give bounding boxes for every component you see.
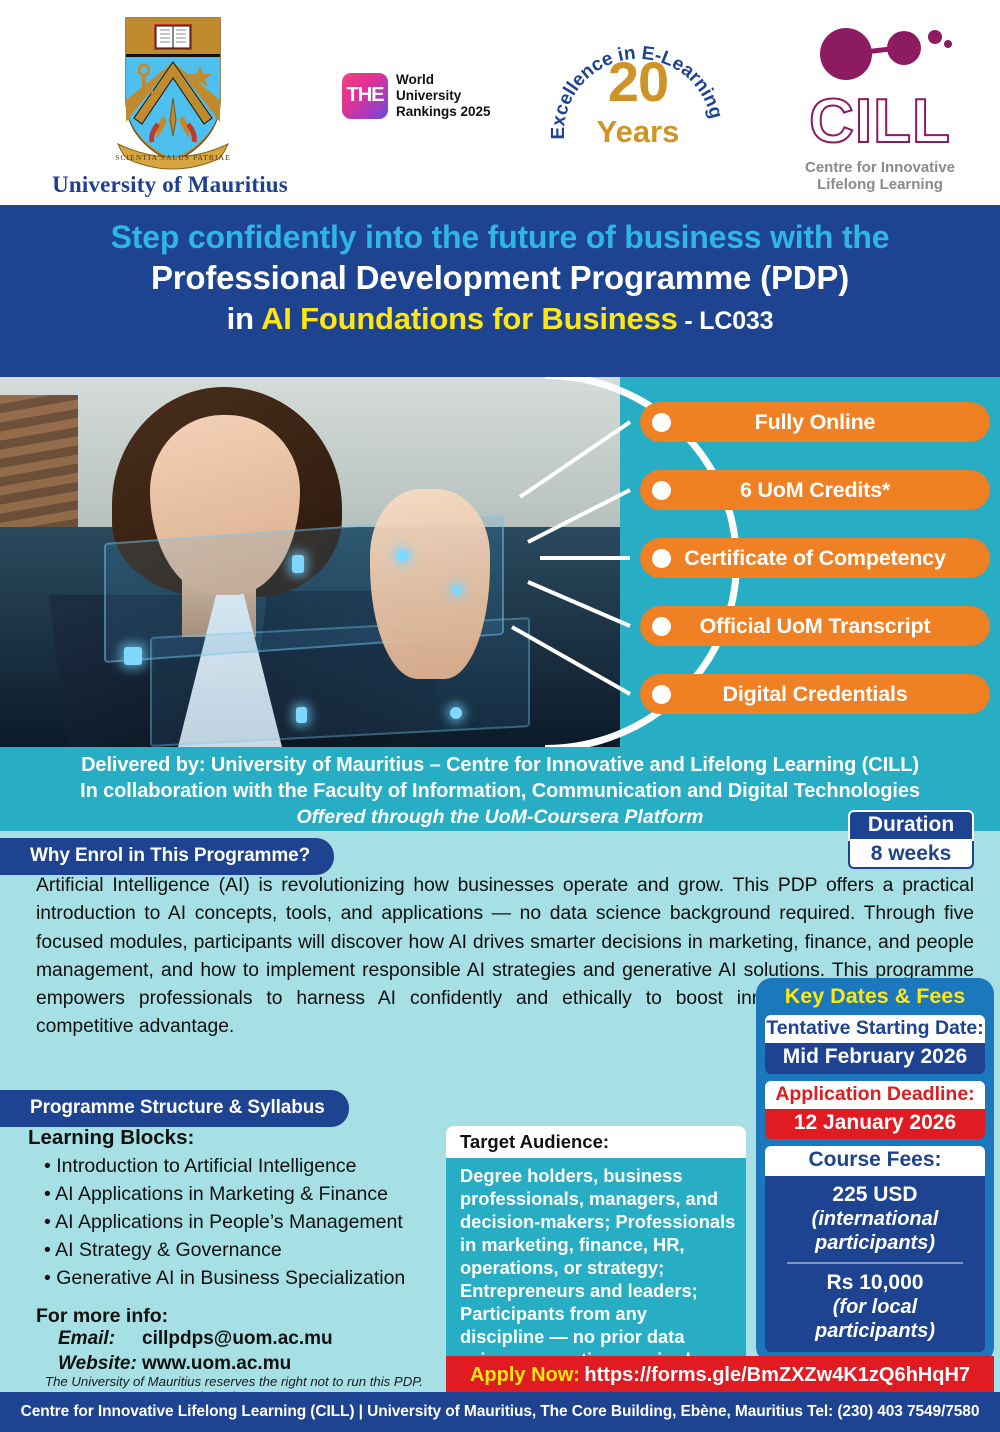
duration-value: 8 weeks (848, 841, 974, 870)
cill-subtitle: Centre for Innovative Lifelong Learning (780, 159, 980, 194)
feature-pill-label: Fully Online (755, 410, 876, 435)
start-date-card: Tentative Starting Date: Mid February 20… (765, 1015, 985, 1074)
pill-dot-icon (652, 685, 671, 704)
learning-blocks-heading: Learning Blocks: (28, 1126, 194, 1150)
crest-motto: SCIENTIA SALUS PATRIAE (115, 153, 231, 162)
apply-now-banner[interactable]: Apply Now: https://forms.gle/BmZXZw4K1zQ… (446, 1356, 994, 1394)
title-banner: Step confidently into the future of busi… (0, 205, 1000, 377)
fee-international-note-1: (international (771, 1208, 979, 1232)
the-line-3: Rankings 2025 (396, 104, 491, 120)
title-line-3-highlight: AI Foundations for Business (261, 301, 678, 336)
title-line-3: in AI Foundations for Business - LC033 (0, 299, 1000, 339)
start-date-label: Tentative Starting Date: (765, 1015, 985, 1043)
feature-pill-label: 6 UoM Credits* (740, 478, 890, 503)
the-badge-icon: THE (342, 73, 388, 119)
tab-programme-structure: Programme Structure & Syllabus (0, 1090, 349, 1127)
list-item: Introduction to Artificial Intelligence (44, 1152, 454, 1180)
feature-pill-label: Official UoM Transcript (700, 614, 931, 639)
fee-international-amount: 225 USD (771, 1183, 979, 1208)
pill-dot-icon (652, 617, 671, 636)
learning-blocks-list: Introduction to Artificial Intelligence … (44, 1152, 454, 1292)
cill-network-icon (780, 22, 980, 82)
course-fees-card: Course Fees: 225 USD (international part… (765, 1146, 985, 1352)
course-fees-body: 225 USD (international participants) Rs … (765, 1176, 985, 1352)
fee-divider (787, 1262, 963, 1264)
hero-section: Fully Online 6 UoM Credits* Certificate … (0, 377, 1000, 747)
cill-letters: CILL (780, 91, 980, 153)
cill-sub-line-1: Centre for Innovative (780, 159, 980, 176)
list-item: AI Applications in People’s Management (44, 1208, 454, 1236)
email-value[interactable]: cillpdps@uom.ac.mu (142, 1328, 333, 1349)
the-rankings-text: World University Rankings 2025 (396, 72, 491, 120)
the-line-1: World (396, 72, 491, 88)
title-line-2: Professional Development Programme (PDP) (0, 257, 1000, 299)
feature-pill[interactable]: Digital Credentials (640, 674, 990, 714)
target-audience-box: Target Audience: Degree holders, busines… (446, 1126, 746, 1382)
feature-pill[interactable]: 6 UoM Credits* (640, 470, 990, 510)
key-dates-fees-panel: Key Dates & Fees Tentative Starting Date… (756, 978, 994, 1363)
delivered-by-line-2: In collaboration with the Faculty of Inf… (0, 778, 1000, 804)
the-rankings-logo: THE World University Rankings 2025 (342, 72, 491, 120)
pill-dot-icon (652, 549, 671, 568)
pill-dot-icon (652, 481, 671, 500)
start-date-value: Mid February 2026 (765, 1043, 985, 1074)
email-label: Email: (58, 1327, 142, 1352)
contact-heading: For more info: (36, 1305, 168, 1328)
university-name: University of Mauritius (20, 172, 320, 198)
fee-local-amount: Rs 10,000 (771, 1271, 979, 1296)
feature-pill[interactable]: Certificate of Competency (640, 538, 990, 578)
feature-pill-list: Fully Online 6 UoM Credits* Certificate … (622, 377, 1000, 747)
contact-website-row: Website:www.uom.ac.mu (58, 1352, 333, 1377)
list-item: AI Strategy & Governance (44, 1236, 454, 1264)
years-number: 20 (548, 54, 728, 110)
website-value[interactable]: www.uom.ac.mu (142, 1353, 291, 1374)
uom-crest-icon: SCIENTIA SALUS PATRIAE (108, 12, 238, 170)
footer-bar: Centre for Innovative Lifelong Learning … (0, 1392, 1000, 1432)
the-line-2: University (396, 88, 491, 104)
title-line-1: Step confidently into the future of busi… (0, 218, 1000, 257)
list-item: AI Applications in Marketing & Finance (44, 1180, 454, 1208)
years-word: Years (548, 116, 728, 147)
title-line-3-prefix: in (227, 301, 261, 336)
flyer-page: SCIENTIA SALUS PATRIAE University of Mau… (0, 0, 1000, 1432)
contact-details: Email:cillpdps@uom.ac.mu Website:www.uom… (58, 1327, 333, 1376)
tab-why-enrol: Why Enrol in This Programme? (0, 838, 334, 875)
fee-local-note: (for local participants) (771, 1296, 979, 1343)
feature-pill-label: Certificate of Competency (684, 546, 945, 571)
hero-photo (0, 377, 620, 747)
deadline-card: Application Deadline: 12 January 2026 (765, 1081, 985, 1140)
cill-sub-line-2: Lifelong Learning (780, 176, 980, 193)
cill-logo: CILL Centre for Innovative Lifelong Lear… (780, 22, 980, 194)
delivered-by-line-1: Delivered by: University of Mauritius – … (0, 752, 1000, 778)
feature-pill-label: Digital Credentials (723, 682, 908, 707)
duration-label: Duration (848, 810, 974, 841)
fee-international-note-2: participants) (771, 1232, 979, 1256)
website-label: Website: (58, 1352, 142, 1377)
title-course-code: - LC033 (678, 307, 774, 335)
target-audience-body: Degree holders, business professionals, … (446, 1158, 746, 1382)
deadline-label: Application Deadline: (765, 1081, 985, 1109)
uom-crest: SCIENTIA SALUS PATRIAE (108, 12, 238, 175)
apply-now-url[interactable]: https://forms.gle/BmZXZw4K1zQ6hHqH7 (584, 1364, 970, 1387)
twenty-years-logo: Excellence in E-Learning 20 Years (548, 28, 728, 193)
the-badge-text: THE (347, 84, 384, 107)
deadline-value: 12 January 2026 (765, 1109, 985, 1140)
key-dates-title: Key Dates & Fees (765, 984, 985, 1010)
list-item: Generative AI in Business Specialization (44, 1264, 454, 1292)
duration-badge: Duration 8 weeks (848, 810, 974, 869)
target-audience-heading: Target Audience: (446, 1126, 746, 1158)
feature-pill[interactable]: Official UoM Transcript (640, 606, 990, 646)
pill-dot-icon (652, 413, 671, 432)
logo-band: SCIENTIA SALUS PATRIAE University of Mau… (0, 0, 1000, 205)
contact-email-row: Email:cillpdps@uom.ac.mu (58, 1327, 333, 1352)
apply-now-label: Apply Now: (470, 1364, 580, 1387)
course-fees-label: Course Fees: (765, 1146, 985, 1176)
feature-pill[interactable]: Fully Online (640, 402, 990, 442)
